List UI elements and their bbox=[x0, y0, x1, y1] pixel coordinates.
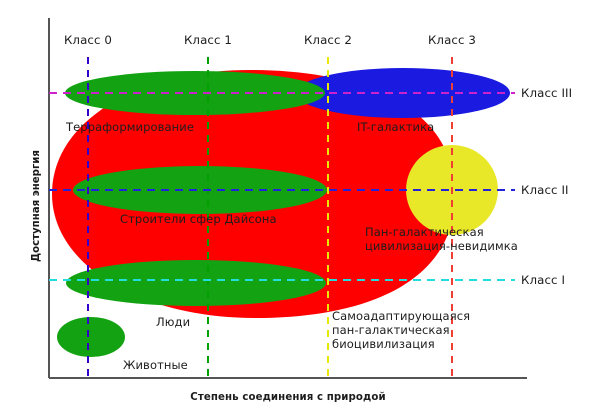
annotation-self-adapting-line1: Самоадаптирующаяся bbox=[332, 310, 470, 324]
y-axis-title: Доступная энергия bbox=[31, 150, 42, 262]
annotation-dyson-spheres: Строители сфер Дайсона bbox=[120, 212, 277, 226]
class-header-2: Класс 2 bbox=[304, 33, 352, 47]
annotation-pan-galactic-line1: Пан-галактическая bbox=[365, 226, 484, 240]
annotation-animals: Животные bbox=[123, 358, 188, 372]
annotation-self-adapting-line3: биоцивилизация bbox=[332, 338, 435, 352]
annotation-humans: Люди bbox=[156, 315, 190, 329]
class-header-3: Класс 3 bbox=[428, 33, 476, 47]
region-animals bbox=[57, 317, 125, 357]
right-label-class-II: Класс II bbox=[521, 183, 569, 197]
civilization-scatter-chart bbox=[0, 0, 600, 411]
class-header-0: Класс 0 bbox=[64, 33, 112, 47]
class-header-1: Класс 1 bbox=[184, 33, 232, 47]
annotation-terraforming: Терраформирование bbox=[66, 120, 194, 134]
annotation-it-galaxy: IT-галактика bbox=[357, 120, 434, 134]
annotation-pan-galactic-line2: цивилизация-невидимка bbox=[365, 240, 518, 254]
annotation-self-adapting-line2: пан-галактическая bbox=[332, 324, 450, 338]
x-axis-title: Степень соединения с природой bbox=[190, 392, 385, 403]
right-label-class-I: Класс I bbox=[521, 273, 565, 287]
chart-canvas: Класс 0 Класс 1 Класс 2 Класс 3 Класс II… bbox=[0, 0, 600, 411]
region-humans bbox=[66, 260, 326, 306]
right-label-class-III: Класс III bbox=[521, 86, 572, 100]
